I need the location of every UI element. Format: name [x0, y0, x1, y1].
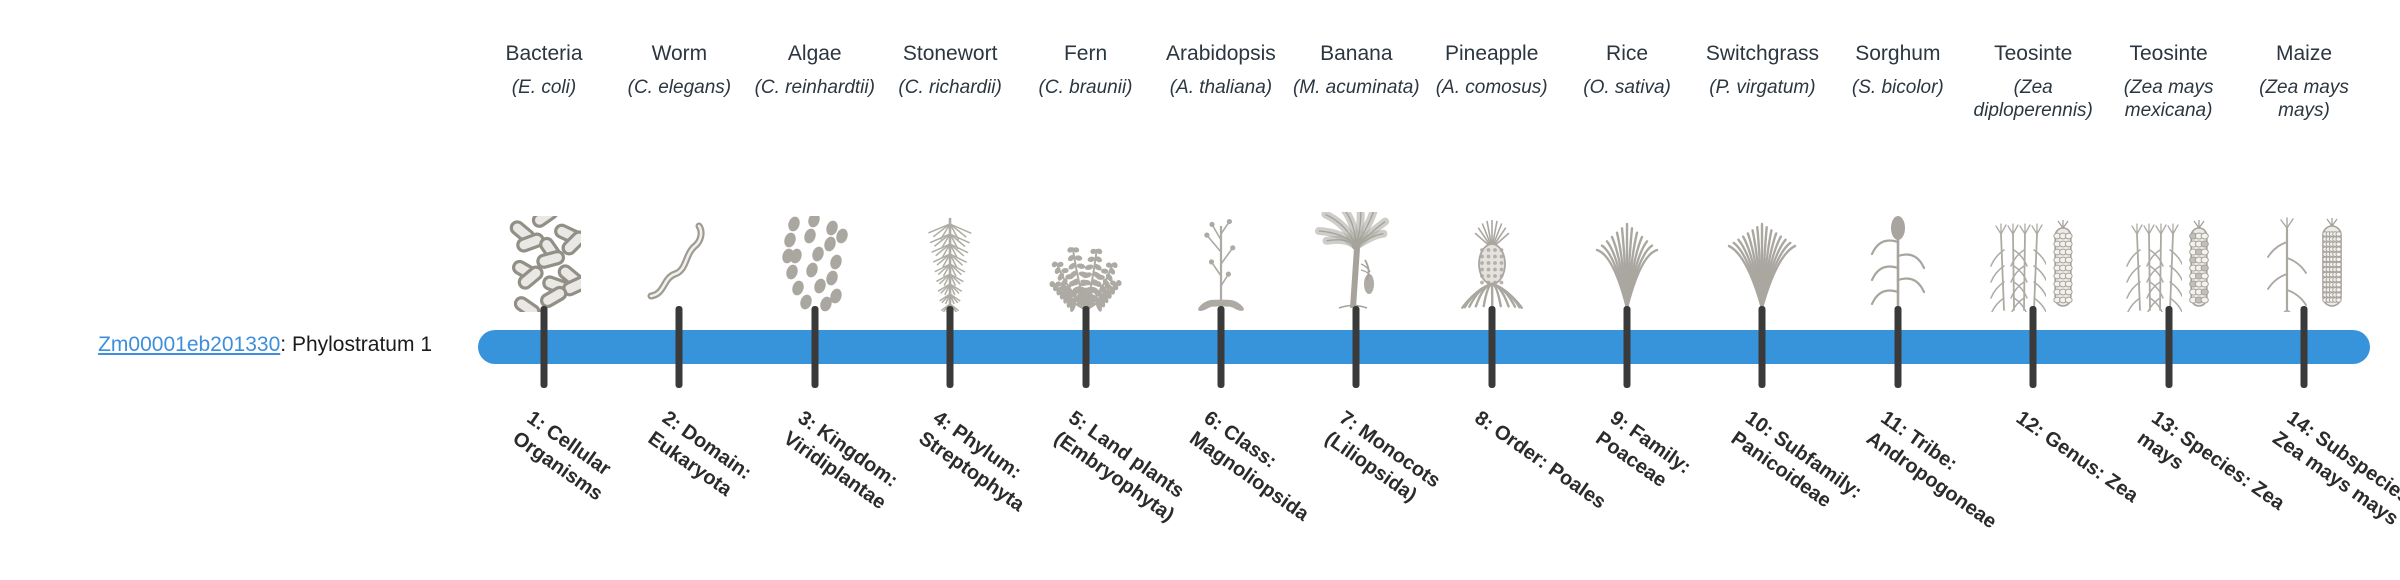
species-scientific-name: (Zea diploperennis): [1967, 76, 2099, 122]
teosinte-mex-icon: [2103, 204, 2235, 312]
species-common-name: Maize: [2276, 42, 2332, 66]
switchgrass-icon: [1696, 204, 1828, 312]
species-column: Bacteria(E. coli): [478, 0, 610, 330]
maize-icon: [2238, 204, 2370, 312]
species-common-name: Teosinte: [1994, 42, 2072, 66]
rank-label: 5: Land plants (Embryophyta): [1049, 406, 1217, 544]
species-scientific-name: (E. coli): [512, 76, 576, 99]
species-scientific-name: (S. bicolor): [1852, 76, 1944, 99]
species-column: Stonewort(C. richardii): [884, 0, 1016, 330]
species-scientific-name: (C. elegans): [628, 76, 732, 99]
gene-id-link[interactable]: Zm00001eb201330: [98, 333, 280, 356]
species-scientific-name: (C. reinhardtii): [755, 76, 875, 99]
species-common-name: Arabidopsis: [1166, 42, 1276, 66]
species-common-name: Algae: [788, 42, 842, 66]
phylostratum-tick[interactable]: [811, 306, 818, 388]
species-column: Rice(O. sativa): [1561, 0, 1693, 330]
species-scientific-name: (Zea mays mexicana): [2103, 76, 2235, 122]
phylostratum-tick[interactable]: [947, 306, 954, 388]
phylostratum-tick[interactable]: [1624, 306, 1631, 388]
species-column: Pineapple(A. comosus): [1426, 0, 1558, 330]
species-common-name: Worm: [652, 42, 708, 66]
rank-label: 11: Tribe: Andropogoneae: [1861, 406, 2029, 544]
banana-icon: [1290, 204, 1422, 312]
phylostratum-track: [478, 330, 2370, 364]
rice-icon: [1561, 204, 1693, 312]
species-column: Fern(C. braunii): [1020, 0, 1152, 330]
sorghum-icon: [1832, 204, 1964, 312]
rank-label: 3: Kingdom: Viridiplantae: [778, 406, 946, 544]
species-common-name: Teosinte: [2130, 42, 2208, 66]
fern-icon: [1020, 204, 1152, 312]
phylostratum-tick[interactable]: [1488, 306, 1495, 388]
species-scientific-name: (O. sativa): [1583, 76, 1671, 99]
rank-label: 9: Family: Poaceae: [1590, 406, 1758, 544]
rank-label: 2: Domain: Eukaryota: [643, 406, 811, 544]
species-scientific-name: (M. acuminata): [1293, 76, 1420, 99]
phylostratum-tick[interactable]: [1217, 306, 1224, 388]
phylostratum-tick[interactable]: [676, 306, 683, 388]
phylostratum-tick[interactable]: [1082, 306, 1089, 388]
bacteria-icon: [478, 204, 610, 312]
species-scientific-name: (C. braunii): [1039, 76, 1133, 99]
rank-label: 1: Cellular Organisms: [507, 406, 675, 544]
arabidopsis-icon: [1155, 204, 1287, 312]
algae-icon: [749, 204, 881, 312]
species-column: Arabidopsis(A. thaliana): [1155, 0, 1287, 330]
species-column-group: Bacteria(E. coli)Worm(C. elegans)Algae(C…: [478, 0, 2370, 330]
phylostratum-tick[interactable]: [1759, 306, 1766, 388]
phylostratum-tick[interactable]: [1353, 306, 1360, 388]
phylostratum-tick[interactable]: [2301, 306, 2308, 388]
rank-label-group: 1: Cellular Organisms2: Domain: Eukaryot…: [478, 406, 2370, 580]
rank-label: 10: Subfamily: Panicoideae: [1726, 406, 1894, 544]
species-scientific-name: (A. comosus): [1436, 76, 1548, 99]
species-common-name: Bacteria: [505, 42, 582, 66]
species-column: Banana(M. acuminata): [1290, 0, 1422, 330]
phylostratum-tick[interactable]: [1894, 306, 1901, 388]
species-scientific-name: (A. thaliana): [1170, 76, 1272, 99]
rank-label: 8: Order: Poales: [1469, 406, 1623, 524]
gene-label-separator: :: [280, 333, 292, 356]
phylostratum-figure: Zm00001eb201330: Phylostratum 1 Bacteria…: [0, 0, 2400, 580]
species-column: Sorghum(S. bicolor): [1832, 0, 1964, 330]
gene-phylostratum-label: Zm00001eb201330: Phylostratum 1: [0, 332, 450, 358]
worm-icon: [613, 204, 745, 312]
species-common-name: Stonewort: [903, 42, 998, 66]
species-scientific-name: (C. richardii): [898, 76, 1001, 99]
rank-label: 6: Class: Magnoliopsida: [1184, 406, 1352, 544]
rank-label: 13: Species: Zea mays: [2132, 406, 2300, 544]
phylostratum-bar[interactable]: [478, 330, 2370, 364]
phylostratum-value: Phylostratum 1: [292, 333, 432, 356]
species-column: Teosinte(Zea mays mexicana): [2103, 0, 2235, 330]
rank-label: 14: Subspecies: Zea mays mays: [2267, 406, 2400, 544]
species-common-name: Rice: [1606, 42, 1648, 66]
species-column: Maize(Zea mays mays): [2238, 0, 2370, 330]
species-common-name: Pineapple: [1445, 42, 1538, 66]
phylostratum-tick[interactable]: [2165, 306, 2172, 388]
species-column: Algae(C. reinhardtii): [749, 0, 881, 330]
species-common-name: Banana: [1320, 42, 1392, 66]
species-common-name: Sorghum: [1855, 42, 1940, 66]
species-scientific-name: (Zea mays mays): [2238, 76, 2370, 122]
rank-label: 12: Genus: Zea: [2011, 406, 2165, 524]
species-common-name: Switchgrass: [1706, 42, 1819, 66]
species-scientific-name: (P. virgatum): [1709, 76, 1815, 99]
teosinte-diplo-icon: [1967, 204, 2099, 312]
stonewort-icon: [884, 204, 1016, 312]
phylostratum-tick[interactable]: [2030, 306, 2037, 388]
pineapple-icon: [1426, 204, 1558, 312]
rank-label: 7: Monocots (Liliopsida): [1320, 406, 1488, 544]
species-column: Switchgrass(P. virgatum): [1696, 0, 1828, 330]
species-common-name: Fern: [1064, 42, 1107, 66]
species-column: Worm(C. elegans): [613, 0, 745, 330]
species-column: Teosinte(Zea diploperennis): [1967, 0, 2099, 330]
rank-label: 4: Phylum: Streptophyta: [913, 406, 1081, 544]
phylostratum-tick[interactable]: [541, 306, 548, 388]
